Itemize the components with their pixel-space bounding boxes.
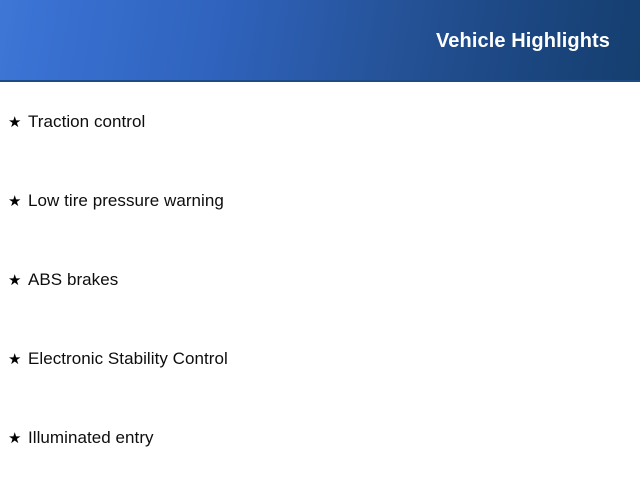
list-item: ★ Traction control [0,109,145,135]
star-icon: ★ [8,346,28,372]
highlight-label: Low tire pressure warning [28,188,224,214]
star-icon: ★ [8,425,28,451]
list-item: ★ Low tire pressure warning [0,188,224,214]
highlight-label: ABS brakes [28,267,118,293]
highlight-label: Electronic Stability Control [28,346,228,372]
page-header: Vehicle Highlights [0,0,640,82]
star-icon: ★ [8,109,28,135]
star-icon: ★ [8,188,28,214]
page-title: Vehicle Highlights [436,31,640,51]
highlight-label: Traction control [28,109,145,135]
vehicle-highlights-page: Vehicle Highlights ★ Traction control ★ … [0,0,640,480]
highlight-label: Illuminated entry [28,425,154,451]
list-item: ★ Electronic Stability Control [0,346,228,372]
list-item: ★ ABS brakes [0,267,118,293]
list-item: ★ Illuminated entry [0,425,154,451]
vehicle-highlights-list: ★ Traction control ★ Low tire pressure w… [0,82,640,480]
star-icon: ★ [8,267,28,293]
